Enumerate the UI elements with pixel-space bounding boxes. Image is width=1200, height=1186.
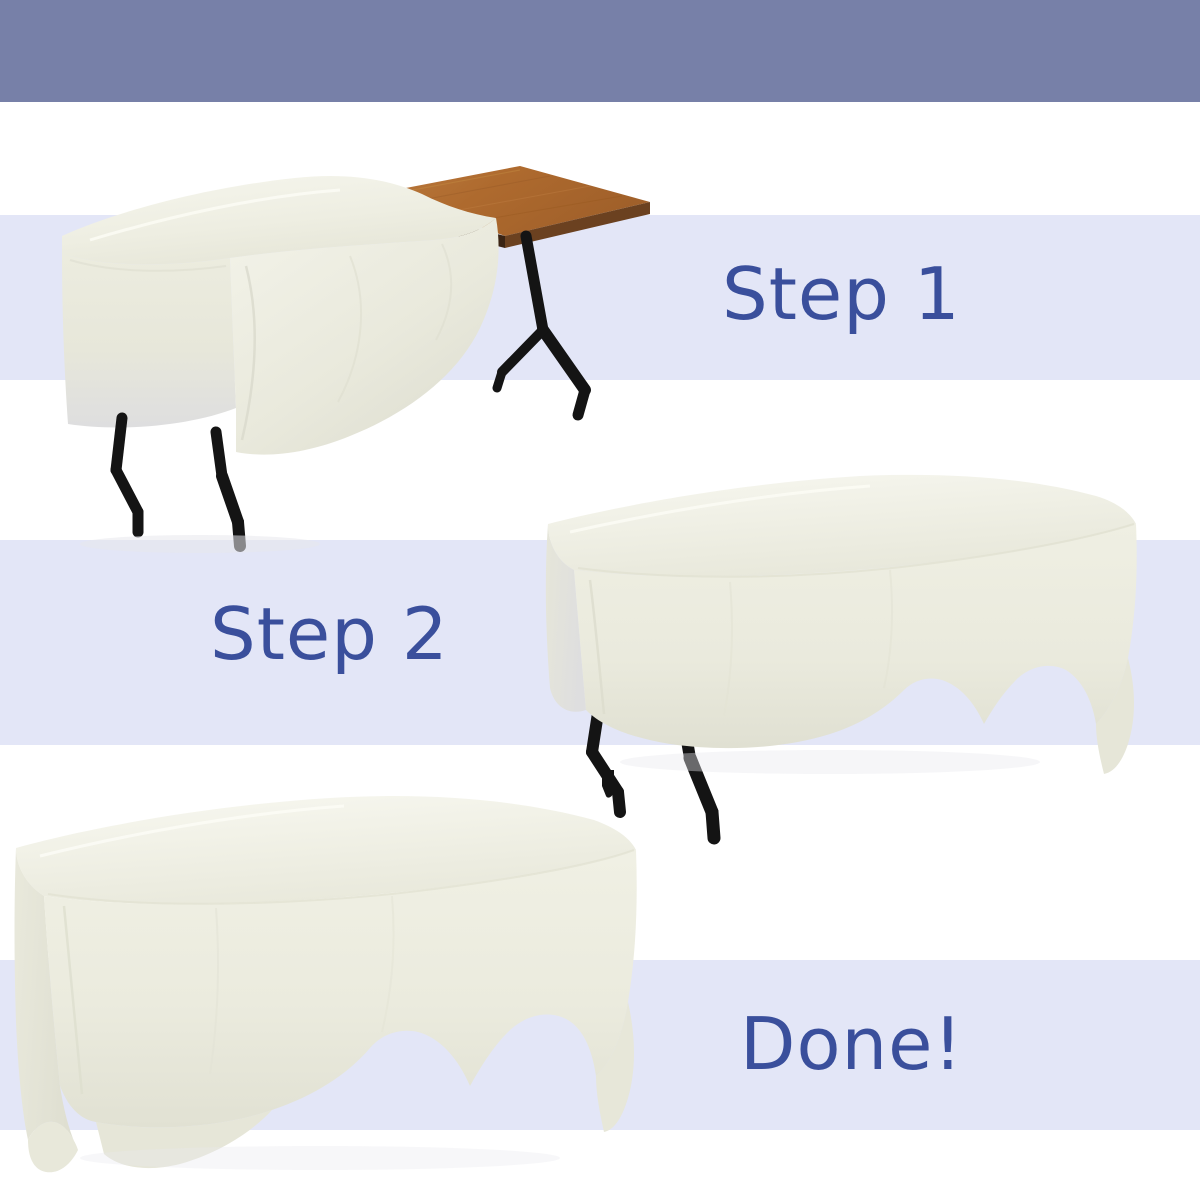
done-label: Done!	[740, 1008, 963, 1080]
table-leg-far-right	[497, 236, 585, 415]
cover-left-side-panel	[62, 254, 236, 427]
step-2-label: Step 2	[210, 598, 449, 670]
header-band	[0, 0, 1200, 102]
install-instructions-graphic: How To Install:	[0, 0, 1200, 1186]
cover-corner-drape-left	[28, 1122, 78, 1173]
cover-diagonal-drape	[230, 218, 499, 455]
table-leg-near-left	[116, 418, 138, 532]
step-2-leg-tip	[596, 770, 620, 800]
done-illustration	[0, 782, 680, 1182]
step-1-label: Step 1	[722, 258, 961, 330]
